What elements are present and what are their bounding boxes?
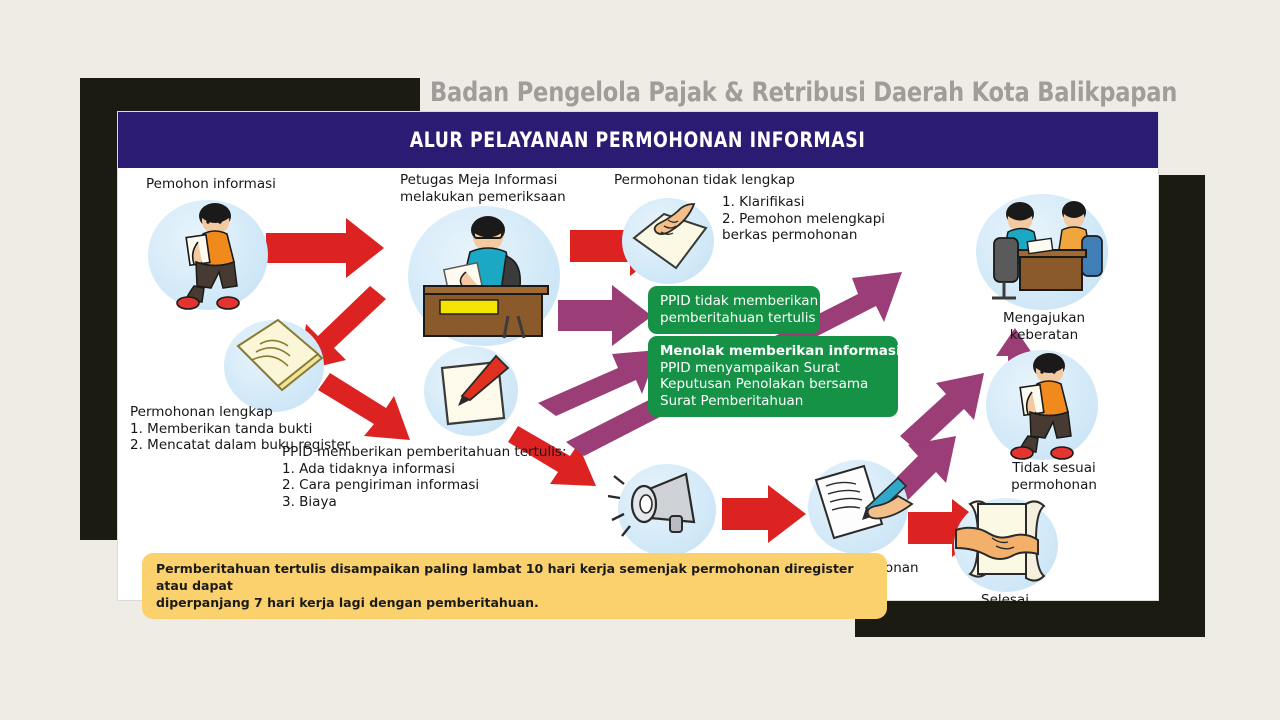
flow-diagram-card: ALUR PELAYANAN PERMOHONAN INFORMASI bbox=[118, 112, 1158, 600]
arrow-purple-petugas-to-ppid-tidak bbox=[558, 285, 652, 346]
label-tidak-sesuai-permohonan: Tidak sesuai permohonan bbox=[974, 460, 1134, 493]
label-pemohon-informasi: Pemohon informasi bbox=[146, 176, 276, 193]
diagram-banner: ALUR PELAYANAN PERMOHONAN INFORMASI bbox=[118, 112, 1158, 168]
label-mengajukan-keberatan: Mengajukan keberatan bbox=[970, 310, 1118, 343]
label-permohonan-tidak-lengkap: Permohonan tidak lengkap bbox=[614, 172, 795, 189]
stacked-documents-glyph bbox=[226, 318, 330, 414]
callout-ppid-tidak-memberikan: PPID tidak memberikan pemberitahuan tert… bbox=[648, 286, 820, 334]
arrow-red-pemohon-to-petugas bbox=[266, 218, 384, 278]
arrow-purple-callout-to-keberatan bbox=[900, 373, 984, 452]
callout-menolak-memberikan-informasi: Menolak memberikan informasi PPID menyam… bbox=[648, 336, 898, 417]
arrow-purple-petugas-to-menolak bbox=[538, 350, 658, 416]
megaphone-glyph bbox=[608, 464, 718, 556]
handshake-glyph bbox=[948, 494, 1068, 594]
officer-at-desk-glyph bbox=[410, 208, 560, 348]
page-title: Badan Pengelola Pajak & Retribusi Daerah… bbox=[430, 76, 1109, 110]
list-permohonan-tidak-lengkap: 1. Klarifikasi 2. Pemohon melengkapi ber… bbox=[722, 194, 885, 244]
arrow-red-megaphone-to-sesuai bbox=[722, 485, 806, 543]
label-ppid-pemberitahuan-tertulis: PPID memberikan pemberitahuan tertulis: … bbox=[282, 444, 567, 510]
label-petugas-meja-informasi: Petugas Meja Informasi melakukan pemerik… bbox=[400, 172, 566, 205]
label-selesai: Selesai bbox=[940, 592, 1070, 609]
person-walking-with-documents-glyph-2 bbox=[1004, 352, 1094, 464]
two-people-at-desk-glyph bbox=[974, 194, 1114, 314]
hand-on-paper-glyph bbox=[624, 198, 716, 284]
slide-canvas: Badan Pengelola Pajak & Retribusi Daerah… bbox=[0, 0, 1280, 720]
diagram-banner-title: ALUR PELAYANAN PERMOHONAN INFORMASI bbox=[410, 128, 866, 152]
footnote-box: Permberitahuan tertulis disampaikan pali… bbox=[142, 553, 887, 619]
notepad-with-pen-glyph bbox=[426, 348, 520, 438]
diagram-body: Pemohon informasi Petugas Meja Informasi… bbox=[118, 168, 1158, 600]
person-walking-with-documents-glyph bbox=[170, 202, 260, 314]
hand-signing-document-glyph bbox=[802, 458, 922, 554]
